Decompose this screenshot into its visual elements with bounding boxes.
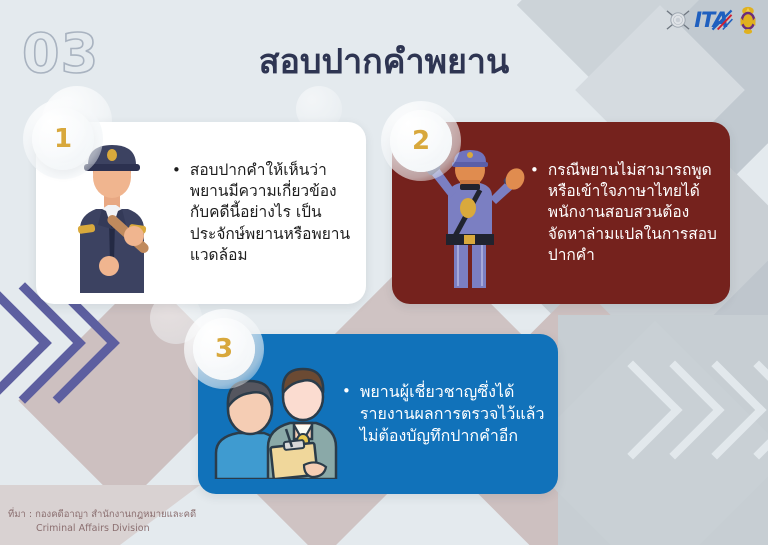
chevron-icon [668,361,767,460]
badge-number: 1 [54,124,72,154]
chevron-group-right [598,375,768,535]
card-1-body-text: สอบปากคำให้เห็นว่าพยานมีความเกี่ยวข้องกั… [190,160,354,267]
badge-number: 2 [412,126,430,156]
card-3-text-block: • พยานผู้เชี่ยวชาญซึ่งได้รายงานผลการตรวจ… [342,381,558,447]
card-2-text-block: • กรณีพยานไม่สามารถพูดหรือเข้าใจภาษาไทยไ… [530,160,730,267]
card-1-number-badge: 1 [32,108,94,170]
badge-number: 3 [215,334,233,364]
chevron-icon [584,361,683,460]
card-2-number-badge: 2 [390,110,452,172]
footer-source-credit: ที่มา : กองคดีอาญา สำนักงานกฎหมายและคดี … [8,508,196,537]
chevron-icon [710,361,768,460]
logo-cluster: ITA [665,6,758,34]
ita-swoosh-icon [709,7,735,33]
card-3-number-badge: 3 [193,318,255,380]
header: 03 สอบปากคำพยาน ITA [0,0,768,100]
footer-line-english: Criminal Affairs Division [8,522,196,537]
medal-emblem-icon [665,7,691,33]
bullet-icon: • [342,381,351,447]
bullet-icon: • [530,160,539,267]
chevron-icon [626,361,725,460]
royal-garuda-emblem-icon [738,6,758,34]
slide-canvas: 03 สอบปากคำพยาน ITA [0,0,768,545]
footer-line-thai: ที่มา : กองคดีอาญา สำนักงานกฎหมายและคดี [8,508,196,523]
page-title: สอบปากคำพยาน [0,34,768,88]
card-1-text-block: • สอบปากคำให้เห็นว่าพยานมีความเกี่ยวข้อง… [172,160,366,267]
chevron-group-left [0,300,148,500]
bg-gray-block-bottom-right [558,315,768,545]
bullet-icon: • [172,160,181,267]
card-2-body-text: กรณีพยานไม่สามารถพูดหรือเข้าใจภาษาไทยได้… [548,160,720,267]
card-3-body-text: พยานผู้เชี่ยวชาญซึ่งได้รายงานผลการตรวจไว… [360,381,548,447]
